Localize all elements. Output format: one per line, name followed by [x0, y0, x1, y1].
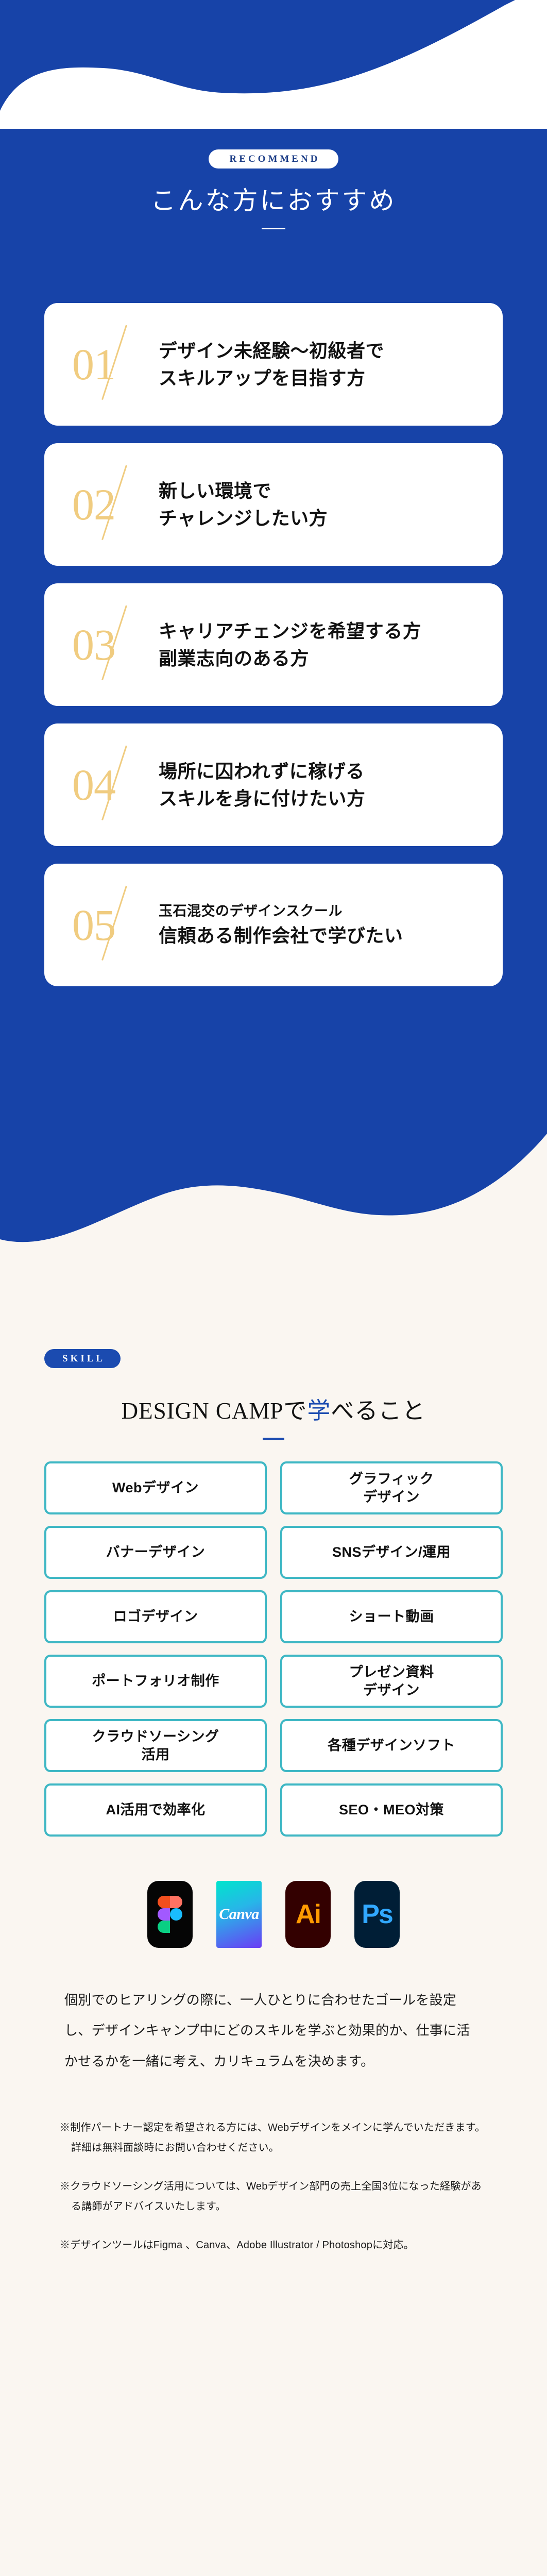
- skill-title-highlight: 学: [307, 1398, 331, 1424]
- skill-box[interactable]: グラフィックデザイン: [280, 1461, 503, 1514]
- skill-box[interactable]: ロゴデザイン: [44, 1590, 267, 1643]
- card-line-2: スキルアップを目指す方: [159, 364, 487, 392]
- recommend-card: 05 玉石混交のデザインスクール 信頼ある制作会社で学びたい: [44, 864, 503, 986]
- slash-divider-icon: [116, 746, 157, 824]
- recommend-card: 02 新しい環境で チャレンジしたい方: [44, 443, 503, 566]
- footnote-list: ※制作パートナー認定を希望される方には、Webデザインをメインに学んでいただきま…: [60, 2118, 487, 2255]
- card-line-1: 新しい環境で: [159, 477, 487, 504]
- skill-label: クラウドソーシング活用: [92, 1728, 219, 1763]
- card-line-2: スキルを身に付けたい方: [159, 785, 487, 812]
- card-line-1: デザイン未経験〜初級者で: [159, 337, 487, 364]
- landing-page: RECOMMEND こんな方におすすめ 01 デザイン未経験〜初級者で スキルア…: [0, 0, 547, 2576]
- card-line-2: 信頼ある制作会社で学びたい: [159, 922, 487, 949]
- skill-box[interactable]: SNSデザイン/運用: [280, 1526, 503, 1579]
- skill-label: Webデザイン: [112, 1479, 199, 1497]
- card-line-2: 副業志向のある方: [159, 645, 487, 672]
- recommend-badge: RECOMMEND: [209, 149, 339, 169]
- skill-box[interactable]: ショート動画: [280, 1590, 503, 1643]
- footnote: ※デザインツールはFigma 、Canva、Adobe Illustrator …: [60, 2235, 487, 2255]
- skill-description: 個別でのヒアリングの際に、一人ひとりに合わせたゴールを設定し、デザインキャンプ中…: [64, 1985, 483, 2077]
- skill-box[interactable]: バナーデザイン: [44, 1526, 267, 1579]
- photoshop-logo-icon: Ps: [354, 1881, 400, 1948]
- skill-badge-wrap: SKILL: [0, 1349, 547, 1368]
- skill-label: ショート動画: [349, 1608, 434, 1626]
- card-line-2: チャレンジしたい方: [159, 504, 487, 532]
- skill-box[interactable]: 各種デザインソフト: [280, 1719, 503, 1772]
- skill-label: SEO・MEO対策: [339, 1801, 444, 1819]
- canva-wordmark: Canva: [219, 1906, 259, 1923]
- skill-label: グラフィックデザイン: [349, 1470, 434, 1506]
- skill-title-prefix: DESIGN CAMPで: [122, 1398, 307, 1424]
- recommend-header: RECOMMEND こんな方におすすめ: [0, 149, 547, 229]
- footnote: ※制作パートナー認定を希望される方には、Webデザインをメインに学んでいただきま…: [60, 2118, 487, 2158]
- skill-box[interactable]: AI活用で効率化: [44, 1783, 267, 1837]
- recommend-title: こんな方におすすめ: [0, 186, 547, 216]
- skill-label: バナーデザイン: [106, 1543, 206, 1561]
- card-text: デザイン未経験〜初級者で スキルアップを目指す方: [157, 337, 503, 392]
- skill-label: ロゴデザイン: [113, 1608, 198, 1626]
- skill-box[interactable]: Webデザイン: [44, 1461, 267, 1514]
- photoshop-wordmark: Ps: [362, 1899, 392, 1930]
- recommend-card: 03 キャリアチェンジを希望する方 副業志向のある方: [44, 583, 503, 706]
- card-text: 玉石混交のデザインスクール 信頼ある制作会社で学びたい: [157, 901, 503, 949]
- figma-logo-icon: [147, 1881, 193, 1948]
- skill-label: プレゼン資料デザイン: [349, 1663, 434, 1699]
- recommend-card: 04 場所に囚われずに稼げる スキルを身に付けたい方: [44, 723, 503, 846]
- top-wave-shape: [0, 0, 547, 129]
- slash-divider-icon: [116, 605, 157, 684]
- illustrator-logo-icon: Ai: [285, 1881, 331, 1948]
- slash-divider-icon: [116, 465, 157, 544]
- skill-box[interactable]: ポートフォリオ制作: [44, 1655, 267, 1708]
- card-line-1: 場所に囚われずに稼げる: [159, 757, 487, 785]
- tool-logo-row: Canva Ai Ps: [44, 1881, 503, 1948]
- figma-glyph: [158, 1896, 182, 1933]
- skill-label: AI活用で効率化: [106, 1801, 206, 1819]
- skill-divider: [263, 1438, 284, 1440]
- canva-logo-icon: Canva: [216, 1881, 262, 1948]
- skill-label: 各種デザインソフト: [328, 1737, 455, 1755]
- skill-title: DESIGN CAMPで学べること: [0, 1392, 547, 1425]
- skill-box[interactable]: プレゼン資料デザイン: [280, 1655, 503, 1708]
- skill-label: ポートフォリオ制作: [92, 1672, 219, 1690]
- card-line-1: 玉石混交のデザインスクール: [159, 901, 487, 922]
- recommend-card-list: 01 デザイン未経験〜初級者で スキルアップを目指す方 02 新しい環境で チャ…: [0, 303, 547, 1004]
- skill-badge: SKILL: [44, 1349, 121, 1368]
- skill-grid: Webデザイン グラフィックデザイン バナーデザイン SNSデザイン/運用 ロゴ…: [44, 1461, 503, 1837]
- card-line-1: キャリアチェンジを希望する方: [159, 617, 487, 645]
- skill-title-suffix: べること: [331, 1398, 425, 1424]
- skill-label: SNSデザイン/運用: [332, 1543, 451, 1561]
- slash-divider-icon: [116, 886, 157, 964]
- footnote: ※クラウドソーシング活用については、Webデザイン部門の売上全国3位になった経験…: [60, 2177, 487, 2217]
- card-text: キャリアチェンジを希望する方 副業志向のある方: [157, 617, 503, 672]
- slash-divider-icon: [116, 325, 157, 403]
- card-text: 場所に囚われずに稼げる スキルを身に付けたい方: [157, 757, 503, 813]
- recommend-card: 01 デザイン未経験〜初級者で スキルアップを目指す方: [44, 303, 503, 426]
- skill-section: SKILL DESIGN CAMPで学べること Webデザイン グラフィックデザ…: [0, 1349, 547, 2255]
- illustrator-wordmark: Ai: [296, 1899, 320, 1930]
- recommend-divider: [262, 228, 285, 229]
- card-text: 新しい環境で チャレンジしたい方: [157, 477, 503, 532]
- skill-box[interactable]: クラウドソーシング活用: [44, 1719, 267, 1772]
- skill-box[interactable]: SEO・MEO対策: [280, 1783, 503, 1837]
- bottom-wave-shape: [0, 1123, 547, 1293]
